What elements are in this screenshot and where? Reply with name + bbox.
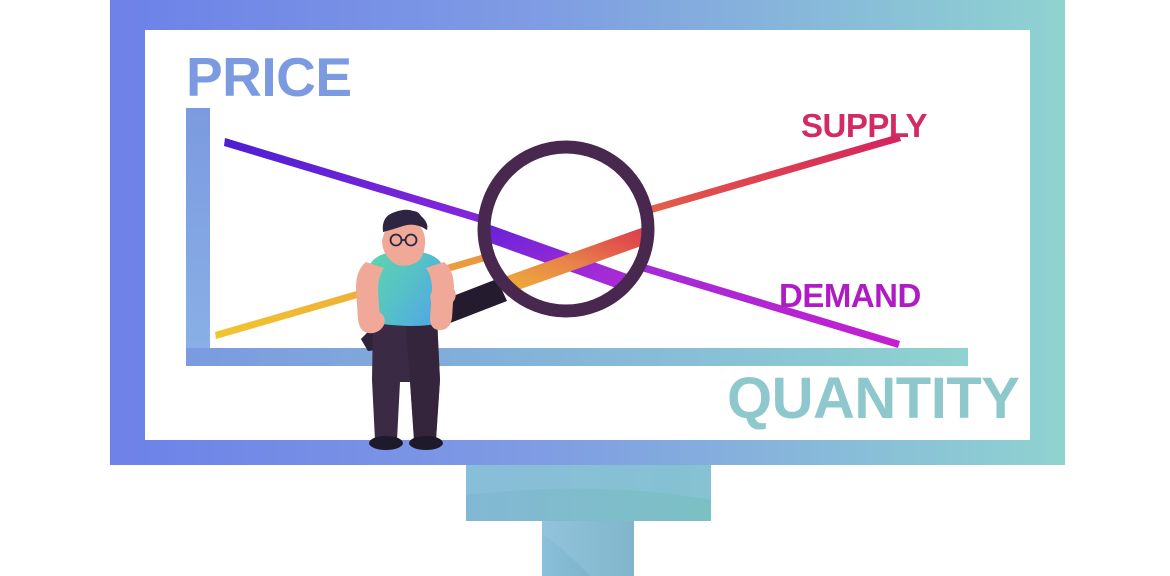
supply-series-label: SUPPLY	[801, 107, 927, 144]
quantity-axis-label: QUANTITY	[727, 366, 1019, 431]
price-axis-label: PRICE	[186, 46, 352, 108]
monitor-stand	[466, 465, 711, 576]
demand-series-label: DEMAND	[779, 277, 921, 314]
shoe-right	[409, 436, 443, 450]
supply-demand-illustration: PRICE QUANTITY SUPPLY DEMAND	[0, 0, 1170, 576]
x-axis	[186, 348, 968, 366]
y-axis	[186, 108, 210, 356]
shoe-left	[369, 436, 403, 450]
illustration-stage: PRICE QUANTITY SUPPLY DEMAND	[0, 0, 1170, 576]
